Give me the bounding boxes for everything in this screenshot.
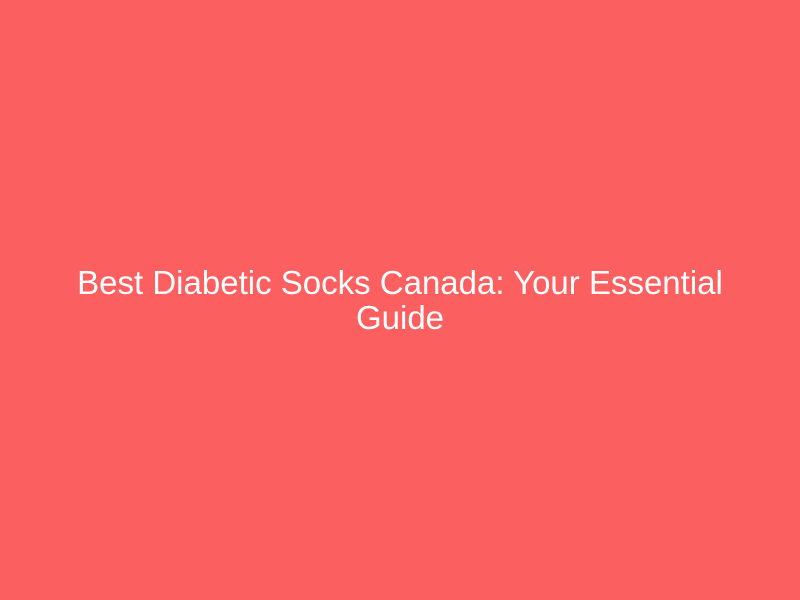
- banner-title: Best Diabetic Socks Canada: Your Essenti…: [70, 265, 730, 335]
- title-block: Best Diabetic Socks Canada: Your Essenti…: [70, 265, 730, 335]
- placeholder-banner: Best Diabetic Socks Canada: Your Essenti…: [0, 0, 800, 600]
